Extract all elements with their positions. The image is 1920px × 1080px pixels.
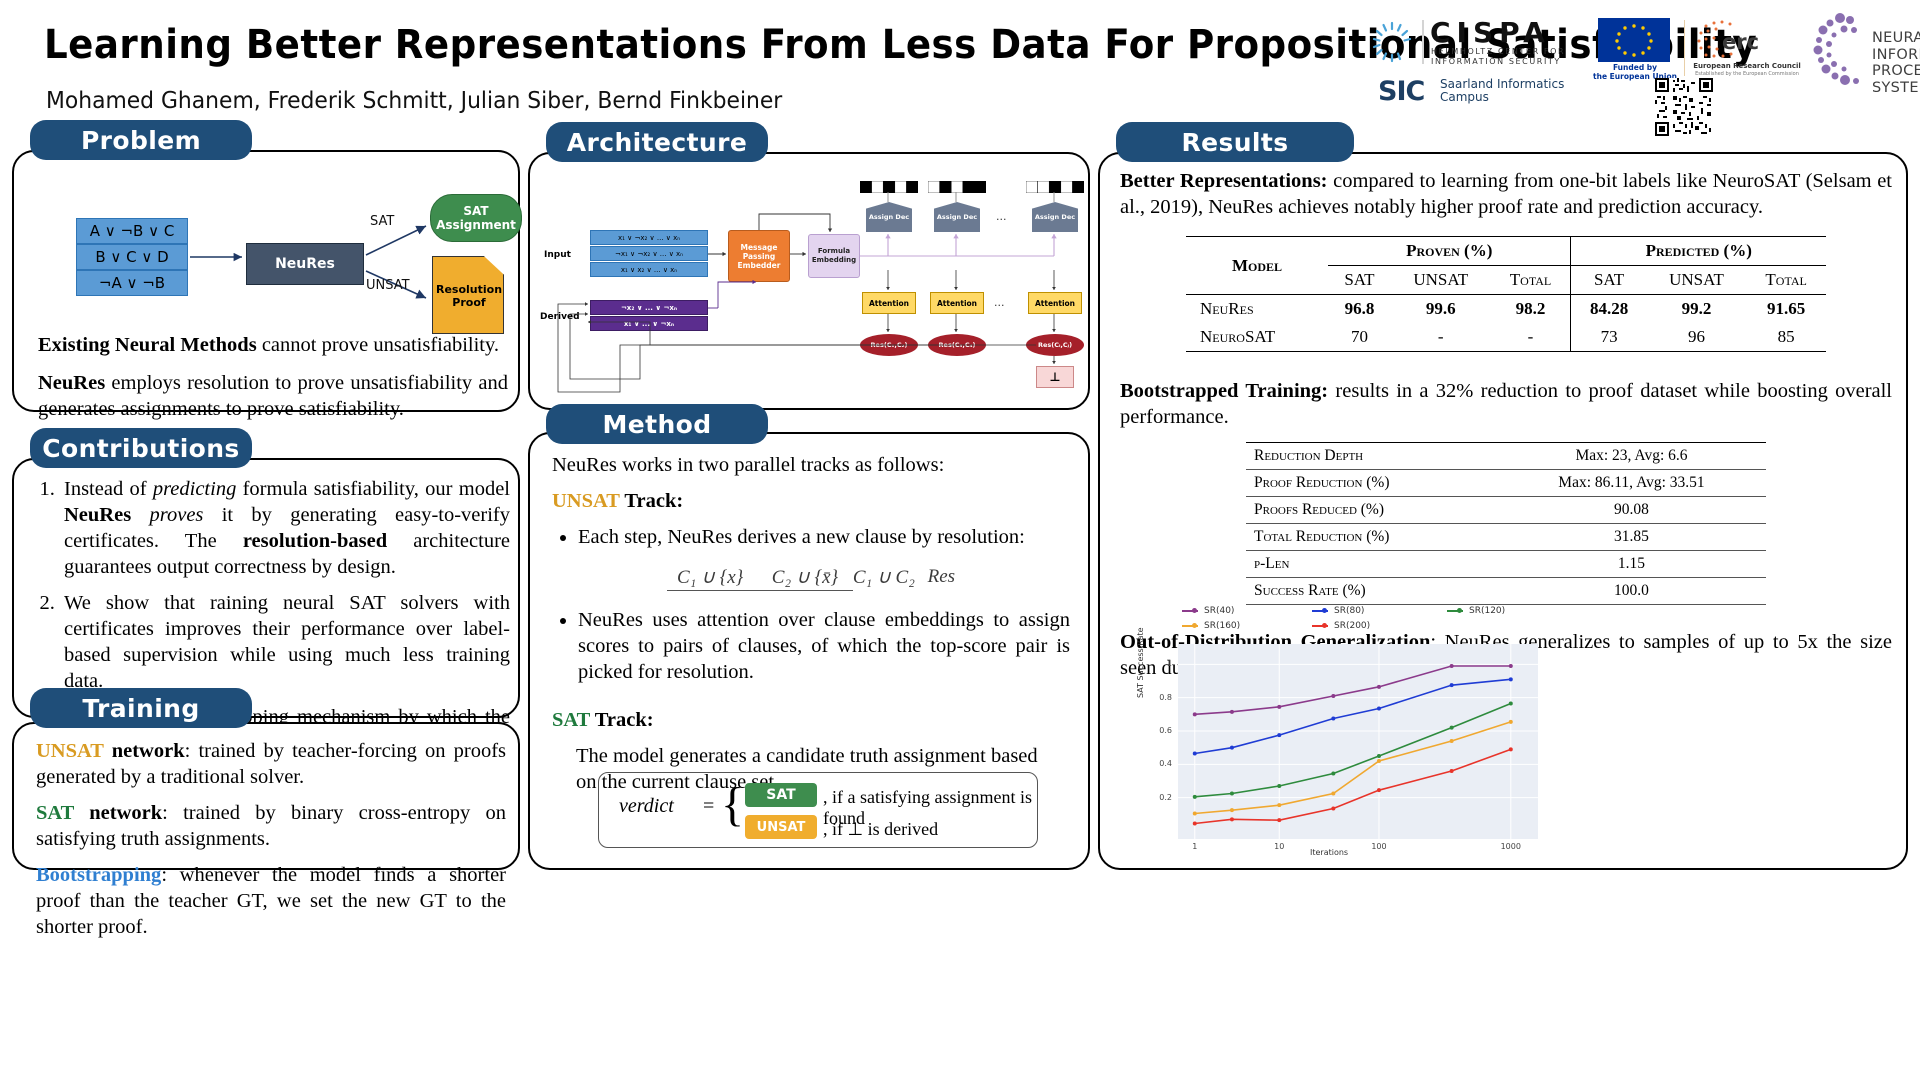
sat-edge-label: SAT <box>370 214 394 229</box>
logo-divider <box>1684 20 1685 76</box>
table-cell-value: 99.2 <box>1647 295 1747 324</box>
chart-ytick-label: 1 <box>1150 659 1172 668</box>
table-cell-value: 84.28 <box>1571 295 1647 324</box>
problem-diagram: A ∨ ¬B ∨ C B ∨ C ∨ D ¬A ∨ ¬B NeuRes SAT … <box>14 170 518 320</box>
table-cell-model: NeuroSAT <box>1186 323 1328 352</box>
chart-xtick-label: 1000 <box>1499 842 1523 851</box>
boot-row-label: Success Rate (%) <box>1246 578 1497 605</box>
chart-data-point <box>1509 702 1513 706</box>
sic-logo: SIC Saarland Informatics Campus <box>1378 76 1578 110</box>
table-row: NeuRes96.899.698.284.2899.291.65 <box>1186 295 1826 324</box>
chart-xtick-label: 100 <box>1367 842 1391 851</box>
neurips-line3: PROCESSING <box>1872 63 1920 80</box>
chart-data-point <box>1331 807 1335 811</box>
table-cell-value: 99.6 <box>1391 295 1491 324</box>
contribution-segment: proves <box>150 504 204 526</box>
results-body: Better Representations: compared to lear… <box>1120 168 1892 681</box>
problem-paragraph-2: NeuRes employs resolution to prove unsat… <box>38 370 508 422</box>
results-main-table: ModelProven (%)Predicted (%)SATUNSATTota… <box>1186 236 1826 352</box>
erc-logo: erc European Research Council Establishe… <box>1692 18 1802 82</box>
chart-data-point <box>1230 808 1234 812</box>
chart-series-line <box>1195 666 1511 714</box>
legend-item[interactable]: SR(120) <box>1447 606 1505 616</box>
legend-dot-icon <box>1192 608 1197 613</box>
problem-body: Existing Neural Methods cannot prove uns… <box>38 332 508 434</box>
resolution-proof-node: Resolution Proof <box>432 256 504 334</box>
legend-dot-icon <box>1192 623 1197 628</box>
problem-p2-rest: employs resolution to prove unsatisfiabi… <box>38 372 508 420</box>
cispa-subtitle-line2: INFORMATION SECURITY <box>1431 57 1565 67</box>
cispa-wordmark: CISPA <box>1430 16 1551 49</box>
contribution-segment: formula satisfiability, our model <box>236 478 510 500</box>
chart-ytick-label: 0.4 <box>1150 759 1172 768</box>
chart-xtick-label: 10 <box>1267 842 1291 851</box>
chart-series-line <box>1195 679 1511 753</box>
legend-label: SR(120) <box>1469 606 1505 616</box>
boot-row-label: Proof Reduction (%) <box>1246 470 1497 497</box>
training-keyword-suffix: network <box>104 740 185 762</box>
training-line: UNSAT network: trained by teacher-forcin… <box>36 738 506 790</box>
contribution-item: We show that raining neural SAT solvers … <box>60 590 510 694</box>
neurips-mark-icon <box>1810 12 1872 92</box>
legend-dot-icon <box>1457 608 1462 613</box>
chart-data-point <box>1230 746 1234 750</box>
table-cell-model: NeuRes <box>1186 295 1328 324</box>
chart-series-line <box>1195 722 1511 814</box>
legend-label: SR(200) <box>1334 621 1370 631</box>
cispa-subtitle-line1: HELMHOLTZ CENTER FOR <box>1431 47 1565 57</box>
table-cell-value: 96 <box>1647 323 1747 352</box>
neurips-line1: NEURAL <box>1872 30 1920 47</box>
chart-data-point <box>1450 739 1454 743</box>
chart-series-svg <box>1178 644 1538 839</box>
training-line: SAT network: trained by binary cross-ent… <box>36 800 506 852</box>
architecture-edges <box>530 154 1088 408</box>
training-keyword-suffix: network <box>74 802 162 824</box>
chart-data-point <box>1331 717 1335 721</box>
boot-row-value: Max: 23, Avg: 6.6 <box>1497 443 1766 470</box>
table-cell-value: 91.65 <box>1746 295 1826 324</box>
cispa-subtitle: HELMHOLTZ CENTER FOR INFORMATION SECURIT… <box>1431 47 1565 67</box>
chart-data-point <box>1193 822 1197 826</box>
verdict-unsat-condition: , if ⊥ is derived <box>823 819 938 840</box>
table-row: Proofs Reduced (%)90.08 <box>1246 497 1766 524</box>
unsat-node-line1: Resolution <box>433 283 505 296</box>
eu-flag-icon <box>1598 18 1670 62</box>
table-row: p-Len1.15 <box>1246 551 1766 578</box>
eu-caption-line1: Funded by <box>1592 63 1678 72</box>
panel-problem: A ∨ ¬B ∨ C B ∨ C ∨ D ¬A ∨ ¬B NeuRes SAT … <box>12 150 520 412</box>
chart-data-point <box>1193 712 1197 716</box>
table-cell-value: 70 <box>1328 323 1391 352</box>
chart-data-point <box>1450 683 1454 687</box>
eu-logo: Funded by the European Union <box>1592 18 1678 80</box>
neurips-line2: INFORMATION <box>1872 47 1920 64</box>
legend-label: SR(40) <box>1204 606 1234 616</box>
chart-data-point <box>1509 677 1513 681</box>
chart-data-point <box>1377 685 1381 689</box>
chart-data-point <box>1277 733 1281 737</box>
chart-data-point <box>1331 792 1335 796</box>
neurips-logo: NEURAL INFORMATION PROCESSING SYSTEMS <box>1810 12 1920 104</box>
verdict-sat-badge: SAT <box>745 783 817 807</box>
chart-data-point <box>1193 752 1197 756</box>
method-bullets: Each step, NeuRes derives a new clause b… <box>552 524 1070 550</box>
chart-plot-area <box>1178 644 1538 839</box>
sic-wordmark: SIC <box>1378 76 1424 107</box>
panel-header-contributions: Contributions <box>30 428 252 468</box>
formula-num-right: C₂ ∪ {x̄} <box>772 567 838 588</box>
table-row: Total Reduction (%)31.85 <box>1246 524 1766 551</box>
chart-legend: SR(40)SR(80)SR(120)SR(160)SR(200) <box>1182 606 1582 640</box>
results-bootstrapped-training: Bootstrapped Training: results in a 32% … <box>1120 378 1892 430</box>
method-sat-label: SAT <box>552 709 590 731</box>
erc-wordmark: erc <box>1722 30 1759 54</box>
verdict-equals: = <box>703 795 714 818</box>
qr-code-icon[interactable] <box>1655 78 1713 136</box>
chart-data-point <box>1193 795 1197 799</box>
erc-caption: European Research Council <box>1692 62 1802 70</box>
training-body: UNSAT network: trained by teacher-forcin… <box>36 738 506 950</box>
problem-p2-bold: NeuRes <box>38 372 105 394</box>
table-cell-value: 73 <box>1571 323 1647 352</box>
chart-data-point <box>1377 707 1381 711</box>
sat-node-line2: Assignment <box>436 218 516 232</box>
panel-header-method: Method <box>546 404 768 444</box>
boot-row-label: p-Len <box>1246 551 1497 578</box>
legend-label: SR(160) <box>1204 621 1240 631</box>
cispa-mark-icon <box>1370 20 1414 64</box>
sat-node-line1: SAT <box>463 204 488 218</box>
boot-row-label: Reduction Depth <box>1246 443 1497 470</box>
sic-subtitle-line2: Campus <box>1440 91 1564 104</box>
cispa-logo: CISPA HELMHOLTZ CENTER FOR INFORMATION S… <box>1370 16 1580 68</box>
method-intro: NeuRes works in two parallel tracks as f… <box>552 452 1070 478</box>
chart-data-point <box>1450 726 1454 730</box>
results-better-representations: Better Representations: compared to lear… <box>1120 168 1892 220</box>
formula-denominator: C₁ ∪ C₂ <box>853 565 915 588</box>
erc-subcaption: Established by the European Commission <box>1692 71 1802 77</box>
method-sat-line1: The model generates a candidate truth as… <box>576 745 1038 767</box>
chart-ytick-label: 0.6 <box>1150 726 1172 735</box>
chart-data-point <box>1377 759 1381 763</box>
table-cell-value: 85 <box>1746 323 1826 352</box>
unsat-node-line2: Proof <box>433 296 505 309</box>
chart-data-point <box>1509 747 1513 751</box>
table-subcol: Total <box>1491 266 1571 295</box>
training-line: Bootstrapping: whenever the model finds … <box>36 862 506 940</box>
chart-data-point <box>1277 803 1281 807</box>
panel-method: NeuRes works in two parallel tracks as f… <box>528 432 1090 870</box>
panel-header-architecture: Architecture <box>546 122 768 162</box>
chart-data-point <box>1230 792 1234 796</box>
legend-dot-icon <box>1322 623 1327 628</box>
chart-xlabel: Iterations <box>1310 848 1348 857</box>
chart-data-point <box>1450 769 1454 773</box>
problem-p1-rest: cannot prove unsatisfiability. <box>257 334 499 356</box>
formula-num-left: C₁ ∪ {x} <box>677 567 743 588</box>
contribution-item: Instead of predicting formula satisfiabi… <box>60 476 510 580</box>
legend-item[interactable]: SR(160) <box>1182 621 1240 631</box>
sat-success-rate-chart: SR(40)SR(80)SR(120)SR(160)SR(200) SAT Su… <box>1140 606 1840 856</box>
table-col-model: Model <box>1186 237 1328 295</box>
chart-series-line <box>1195 749 1511 823</box>
chart-ytick-label: 0.2 <box>1150 793 1172 802</box>
formula-rule-name: Res <box>928 566 955 587</box>
table-row: Reduction DepthMax: 23, Avg: 6.6 <box>1246 443 1766 470</box>
chart-series-line <box>1195 704 1511 797</box>
chart-data-point <box>1277 705 1281 709</box>
verdict-word: verdict <box>619 795 674 818</box>
contribution-segment <box>131 504 149 526</box>
table-row: NeuroSAT70--739685 <box>1186 323 1826 352</box>
contribution-segment: Instead of <box>64 478 153 500</box>
table-subcol: SAT <box>1328 266 1391 295</box>
page-title: Learning Better Representations From Les… <box>44 22 1272 68</box>
table-subcol: UNSAT <box>1391 266 1491 295</box>
chart-ylabel: SAT Success Rate <box>1136 627 1145 698</box>
method-body: NeuRes works in two parallel tracks as f… <box>552 452 1070 805</box>
verdict-brace: { <box>721 781 744 829</box>
contribution-segment: predicting <box>153 478 237 500</box>
chart-data-point <box>1509 664 1513 668</box>
resolution-rule-formula: C₁ ∪ {x} C₂ ∪ {x̄} C₁ ∪ C₂ Res <box>552 564 1070 591</box>
cispa-divider <box>1422 20 1424 64</box>
chart-data-point <box>1277 784 1281 788</box>
unsat-edge-label: UNSAT <box>366 278 410 293</box>
verdict-unsat-badge: UNSAT <box>745 815 817 839</box>
bootstrap-bold: Bootstrapped Training: <box>1120 380 1328 402</box>
chart-data-point <box>1193 812 1197 816</box>
table-row: Success Rate (%)100.0 <box>1246 578 1766 605</box>
chart-data-point <box>1331 694 1335 698</box>
method-sat-suffix: Track: <box>590 709 654 731</box>
table-header-row: ModelProven (%)Predicted (%) <box>1186 237 1826 266</box>
boot-row-label: Total Reduction (%) <box>1246 524 1497 551</box>
sic-subtitle: Saarland Informatics Campus <box>1440 78 1564 104</box>
panel-header-problem: Problem <box>30 120 252 160</box>
verdict-box: verdict = { SAT UNSAT , if a satisfying … <box>598 772 1038 848</box>
contribution-segment: NeuRes <box>64 504 131 526</box>
chart-data-point <box>1509 720 1513 724</box>
training-keyword: SAT <box>36 802 74 824</box>
method-sat-track: SAT Track: <box>552 707 1070 733</box>
panel-results: Better Representations: compared to lear… <box>1098 152 1908 870</box>
logo-row: CISPA HELMHOLTZ CENTER FOR INFORMATION S… <box>1370 8 1915 130</box>
method-bullets-2: NeuRes uses attention over clause embedd… <box>552 607 1070 685</box>
method-unsat-label: UNSAT <box>552 490 620 512</box>
boot-row-value: 31.85 <box>1497 524 1766 551</box>
contribution-segment: resolution-based <box>243 530 387 552</box>
chart-data-point <box>1331 772 1335 776</box>
table-row: Proof Reduction (%)Max: 86.11, Avg: 33.5… <box>1246 470 1766 497</box>
table-cell-value: 96.8 <box>1328 295 1391 324</box>
chart-xtick-label: 1 <box>1183 842 1207 851</box>
table-subcol: SAT <box>1571 266 1647 295</box>
method-unsat-suffix: Track: <box>620 490 684 512</box>
table-subcol: UNSAT <box>1647 266 1747 295</box>
panel-architecture: Input Derived x₁ ∨ ¬x₂ ∨ ... ∨ xₙ ¬x₁ ∨ … <box>528 152 1090 410</box>
problem-p1-bold: Existing Neural Methods <box>38 334 257 356</box>
legend-label: SR(80) <box>1334 606 1364 616</box>
contribution-segment: We show that raining neural SAT solvers … <box>64 592 510 692</box>
neurips-line4: SYSTEMS <box>1872 80 1920 97</box>
formula-fraction: C₁ ∪ {x} C₂ ∪ {x̄} C₁ ∪ C₂ <box>667 565 915 591</box>
problem-paragraph-1: Existing Neural Methods cannot prove uns… <box>38 332 508 358</box>
method-bullet-1: Each step, NeuRes derives a new clause b… <box>578 524 1070 550</box>
chart-data-point <box>1450 664 1454 668</box>
author-list: Mohamed Ghanem, Frederik Schmitt, Julian… <box>46 88 782 114</box>
architecture-diagram: Input Derived x₁ ∨ ¬x₂ ∨ ... ∨ xₙ ¬x₁ ∨ … <box>530 154 1088 408</box>
formula-numerator: C₁ ∪ {x} C₂ ∪ {x̄} <box>667 567 853 591</box>
legend-item[interactable]: SR(200) <box>1312 621 1370 631</box>
better-rep-bold: Better Representations: <box>1120 170 1328 192</box>
table-cell-value: - <box>1491 323 1571 352</box>
method-unsat-track: UNSAT Track: <box>552 488 1070 514</box>
legend-dot-icon <box>1322 608 1327 613</box>
chart-data-point <box>1377 754 1381 758</box>
method-bullet-2: NeuRes uses attention over clause embedd… <box>578 607 1070 685</box>
boot-row-value: 100.0 <box>1497 578 1766 605</box>
chart-data-point <box>1377 788 1381 792</box>
chart-ytick-label: 0.8 <box>1150 693 1172 702</box>
training-keyword: Bootstrapping <box>36 864 161 886</box>
panel-header-results: Results <box>1116 122 1354 162</box>
chart-data-point <box>1230 710 1234 714</box>
panel-header-training: Training <box>30 688 252 728</box>
table-group-proven: Proven (%) <box>1328 237 1571 266</box>
boot-row-value: Max: 86.11, Avg: 33.51 <box>1497 470 1766 497</box>
chart-data-point <box>1277 818 1281 822</box>
table-subcol: Total <box>1746 266 1826 295</box>
legend-item[interactable]: SR(80) <box>1312 606 1364 616</box>
chart-data-point <box>1230 817 1234 821</box>
training-keyword: UNSAT <box>36 740 104 762</box>
results-bootstrap-table: Reduction DepthMax: 23, Avg: 6.6Proof Re… <box>1246 442 1766 605</box>
boot-row-value: 90.08 <box>1497 497 1766 524</box>
table-cell-value: - <box>1391 323 1491 352</box>
sat-assignment-node: SAT Assignment <box>430 194 522 242</box>
neurips-wordmark: NEURAL INFORMATION PROCESSING SYSTEMS <box>1872 30 1920 96</box>
boot-row-value: 1.15 <box>1497 551 1766 578</box>
panel-training: UNSAT network: trained by teacher-forcin… <box>12 722 520 870</box>
boot-row-label: Proofs Reduced (%) <box>1246 497 1497 524</box>
table-group-predicted: Predicted (%) <box>1571 237 1826 266</box>
poster-header: Learning Better Representations From Les… <box>0 0 1920 132</box>
panel-contributions: Instead of predicting formula satisfiabi… <box>12 458 520 718</box>
legend-item[interactable]: SR(40) <box>1182 606 1234 616</box>
table-cell-value: 98.2 <box>1491 295 1571 324</box>
